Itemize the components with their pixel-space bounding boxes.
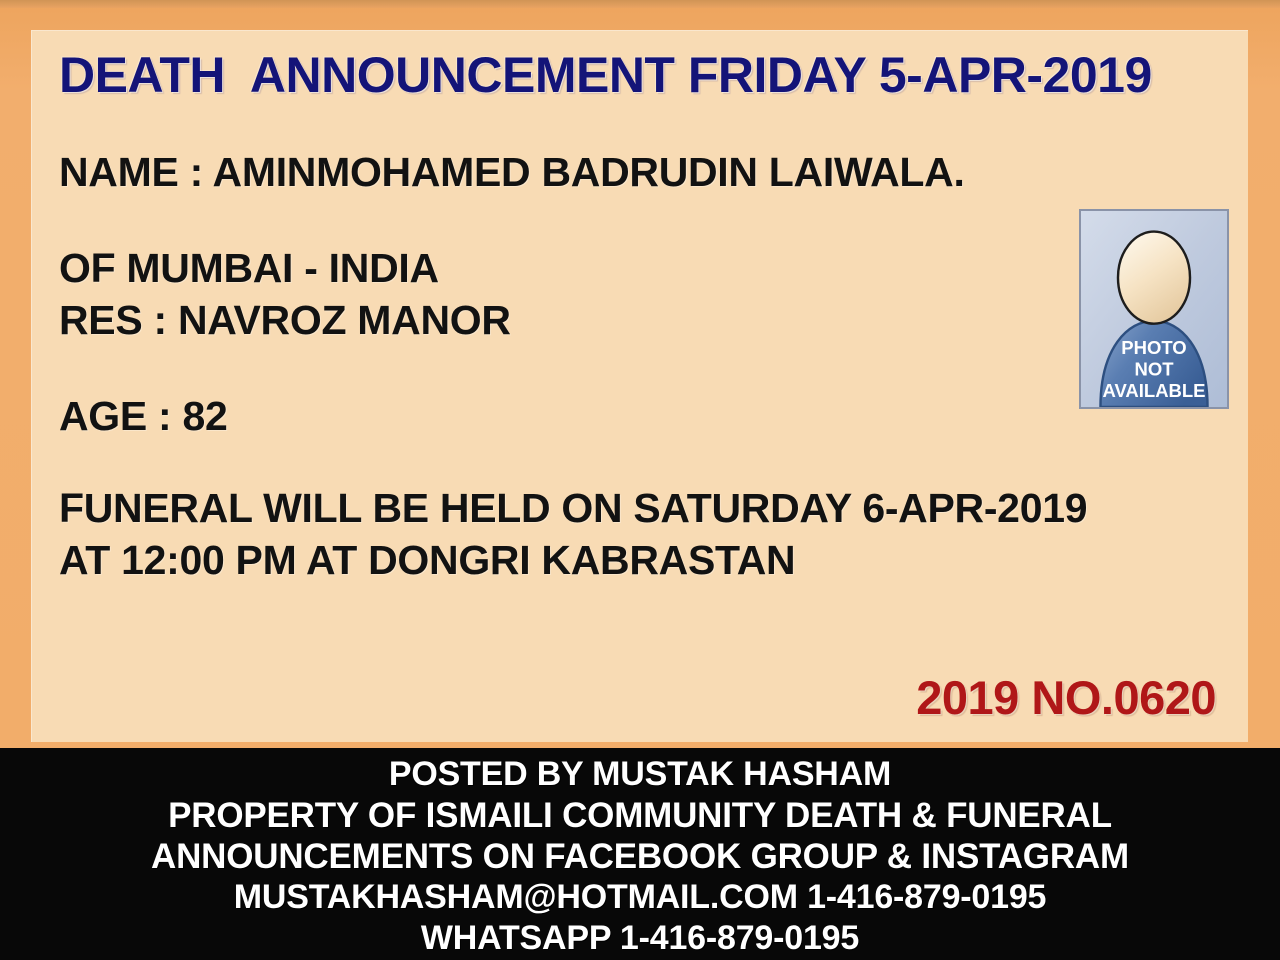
- spacer-1: [59, 198, 1069, 242]
- footer-announcements-line: ANNOUNCEMENTS ON FACEBOOK GROUP & INSTAG…: [0, 836, 1280, 877]
- residence-line: RES : NAVROZ MANOR: [59, 294, 1069, 346]
- funeral-line-2: AT 12:00 PM AT DONGRI KABRASTAN: [59, 534, 1069, 586]
- spacer-3: [59, 442, 1069, 482]
- footer-property-line: PROPERTY OF ISMAILI COMMUNITY DEATH & FU…: [0, 795, 1280, 836]
- frame-top-sheen: [0, 0, 1280, 8]
- reference-number: 2019 NO.0620: [916, 672, 1216, 724]
- death-announcement-poster: DEATH ANNOUNCEMENT FRIDAY 5-APR-2019 NAM…: [0, 0, 1280, 960]
- footer-credits-bar: POSTED BY MUSTAK HASHAM PROPERTY OF ISMA…: [0, 748, 1280, 960]
- photo-placeholder: PHOTO NOT AVAILABLE: [1079, 209, 1229, 409]
- age-line: AGE : 82: [59, 390, 1069, 442]
- funeral-line-1: FUNERAL WILL BE HELD ON SATURDAY 6-APR-2…: [59, 482, 1069, 534]
- footer-posted-by: POSTED BY MUSTAK HASHAM: [0, 754, 1280, 795]
- photo-caption-line-3: AVAILABLE: [1102, 380, 1205, 401]
- deceased-name-line: NAME : AMINMOHAMED BADRUDIN LAIWALA.: [59, 146, 1069, 198]
- footer-email-phone: MUSTAKHASHAM@HOTMAIL.COM 1-416-879-0195: [0, 877, 1280, 918]
- footer-whatsapp: WHATSAPP 1-416-879-0195: [0, 918, 1280, 959]
- page-title: DEATH ANNOUNCEMENT FRIDAY 5-APR-2019: [59, 46, 1229, 104]
- announcement-body: NAME : AMINMOHAMED BADRUDIN LAIWALA. OF …: [59, 146, 1069, 586]
- spacer-2: [59, 346, 1069, 390]
- announcement-card: DEATH ANNOUNCEMENT FRIDAY 5-APR-2019 NAM…: [31, 30, 1248, 742]
- location-line: OF MUMBAI - INDIA: [59, 242, 1069, 294]
- photo-not-available-icon: PHOTO NOT AVAILABLE: [1081, 211, 1227, 407]
- photo-caption-line-1: PHOTO: [1121, 337, 1186, 358]
- photo-caption-line-2: NOT: [1134, 359, 1174, 380]
